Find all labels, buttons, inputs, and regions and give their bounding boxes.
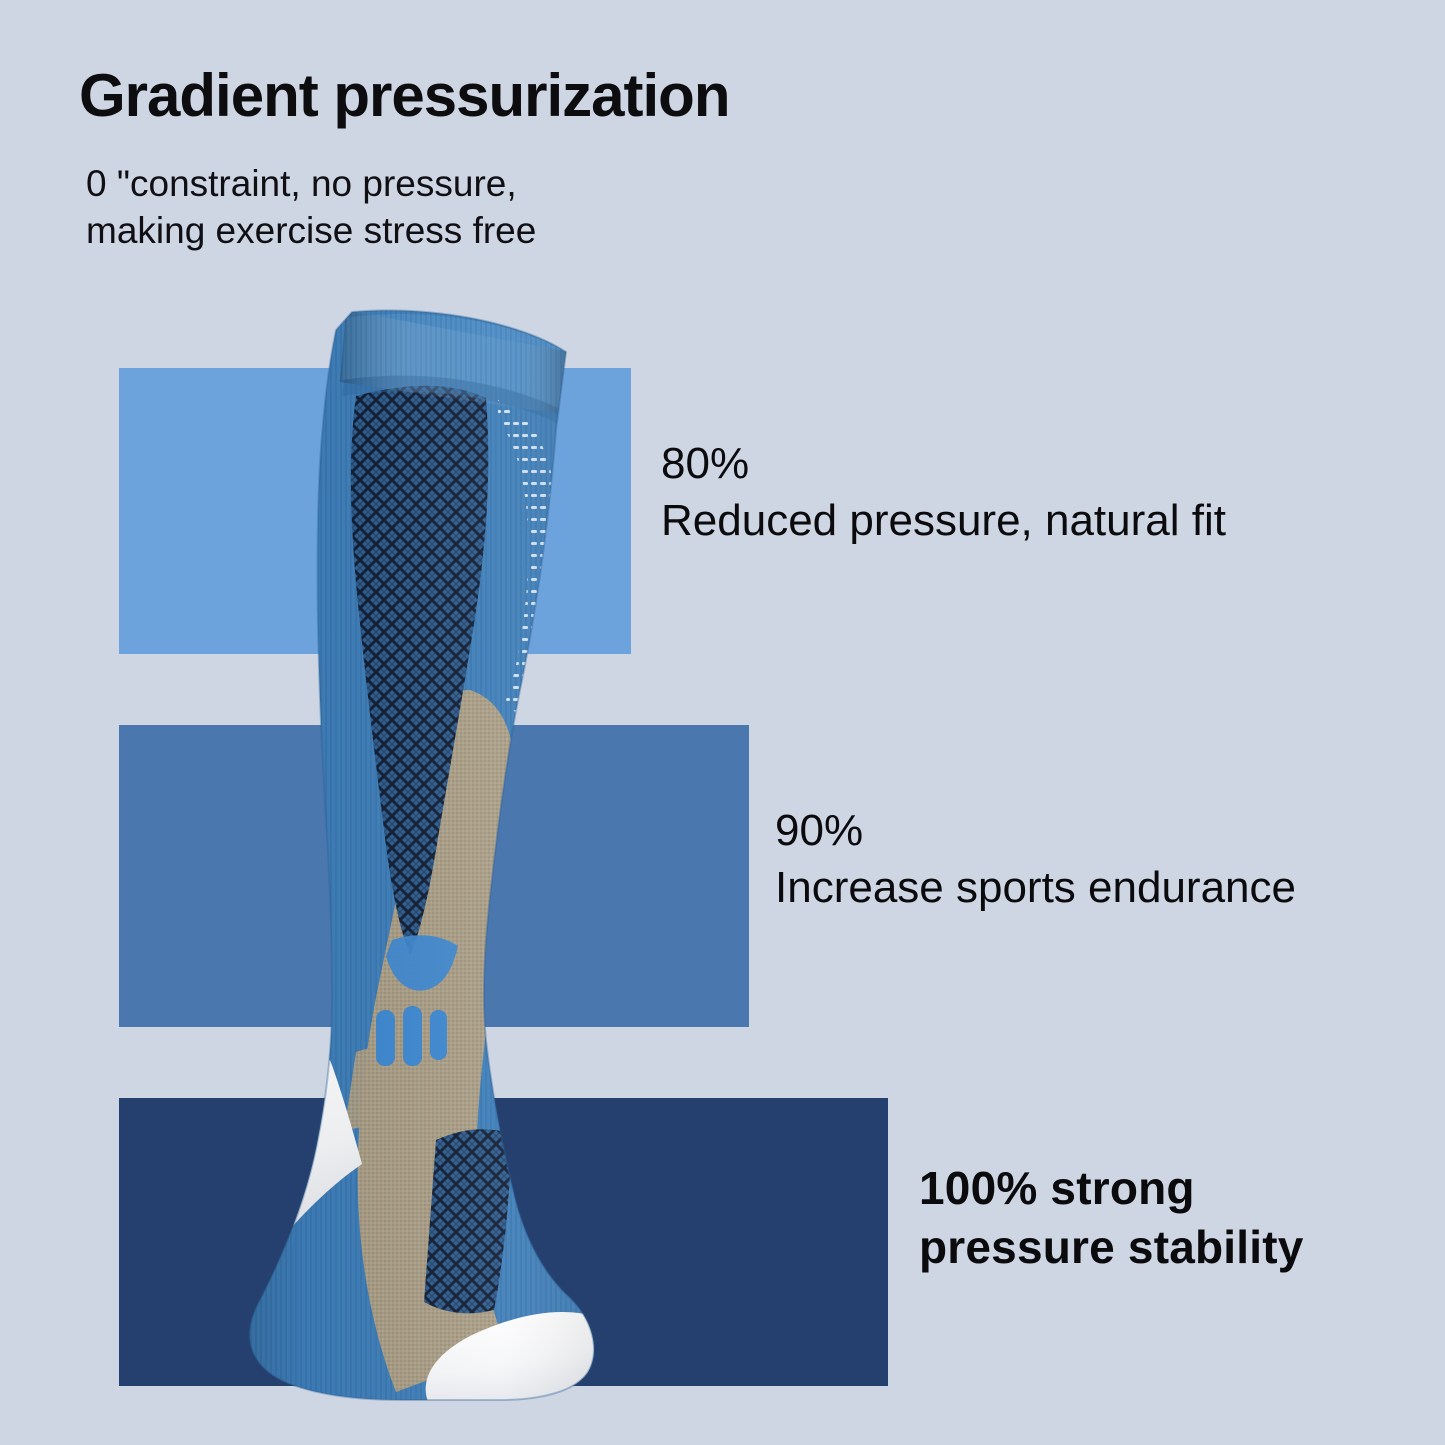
callout-80-percent: 80% bbox=[661, 441, 1226, 487]
callout-90-description: Increase sports endurance bbox=[775, 864, 1296, 912]
callout-100-text: 100% strong pressure stability bbox=[919, 1159, 1304, 1277]
page-subtitle: 0 "constraint, no pressure, making exerc… bbox=[86, 160, 536, 255]
callout-90: 90% Increase sports endurance bbox=[775, 808, 1296, 913]
callout-100: 100% strong pressure stability bbox=[919, 1159, 1304, 1277]
pressure-bar-100 bbox=[119, 1098, 888, 1386]
pressure-bar-80 bbox=[119, 368, 631, 654]
callout-80-description: Reduced pressure, natural fit bbox=[661, 497, 1226, 545]
page-title: Gradient pressurization bbox=[79, 66, 729, 126]
callout-90-percent: 90% bbox=[775, 808, 1296, 854]
infographic-page: Gradient pressurization 0 "constraint, n… bbox=[0, 0, 1445, 1445]
pressure-bar-90 bbox=[119, 725, 749, 1027]
callout-80: 80% Reduced pressure, natural fit bbox=[661, 441, 1226, 546]
